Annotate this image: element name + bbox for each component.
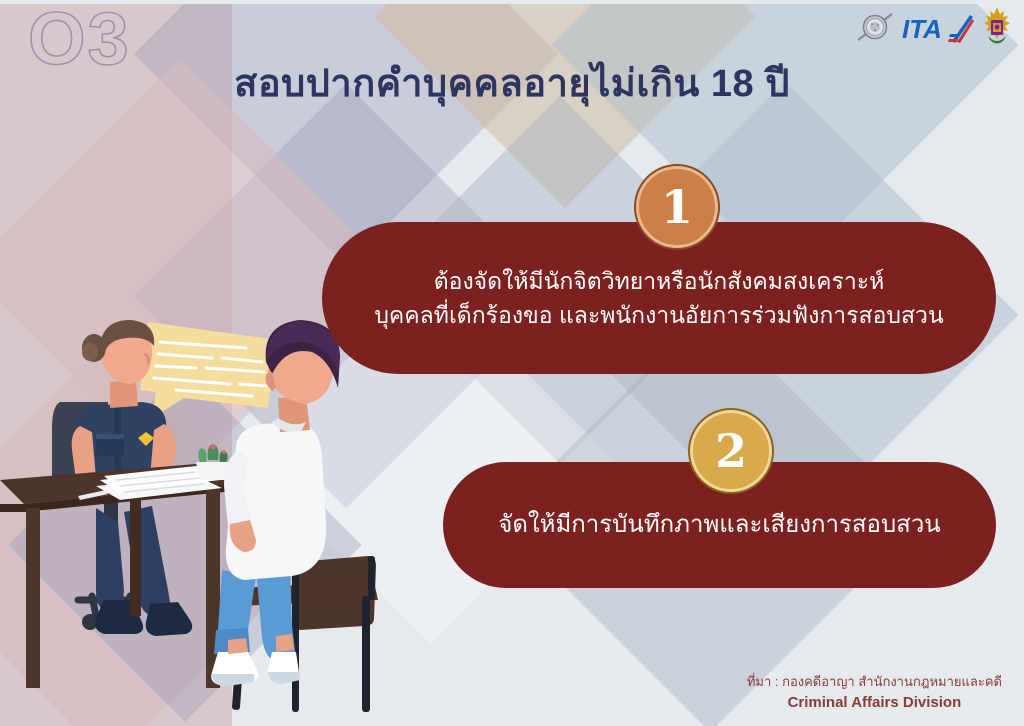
infographic-slide: O3 สอบปากคำบุคคลอายุไม่เกิน 18 ปี ITA <box>0 0 1024 726</box>
card-2-line-1: จัดให้มีการบันทึกภาพและเสียงการสอบสวน <box>498 507 940 543</box>
content-card-1: ต้องจัดให้มีนักจิตวิทยาหรือนักสังคมสงเคร… <box>322 222 996 374</box>
source-footer-thai: ที่มา : กองคดีอาญา สำนักงานกฎหมายและคดี <box>747 673 1002 692</box>
police-interview-illustration <box>0 300 400 726</box>
speech-bubble-icon <box>140 322 278 418</box>
ita-logo-text: ITA <box>902 14 942 44</box>
garuda-emblem-icon <box>982 6 1012 53</box>
source-footer: ที่มา : กองคดีอาญา สำนักงานกฎหมายและคดี … <box>747 673 1002 714</box>
ita-logo: ITA <box>902 9 976 49</box>
source-footer-english: Criminal Affairs Division <box>747 692 1002 714</box>
card-1-line-1: ต้องจัดให้มีนักจิตวิทยาหรือนักสังคมสงเคร… <box>374 264 943 299</box>
page-title: สอบปากคำบุคคลอายุไม่เกิน 18 ปี <box>0 52 1024 113</box>
card-2-text: จัดให้มีการบันทึกภาพและเสียงการสอบสวน <box>498 507 940 543</box>
card-1-line-2: บุคคลที่เด็กร้องขอ และพนักงานอัยการร่วมฟ… <box>374 298 943 333</box>
badge-number-1: 1 <box>636 166 718 248</box>
card-1-text: ต้องจัดให้มีนักจิตวิทยาหรือนักสังคมสงเคร… <box>374 264 943 333</box>
royal-thai-police-seal-icon <box>854 6 896 53</box>
background-top-strip <box>0 0 1024 4</box>
badge-number-2: 2 <box>690 410 772 492</box>
logo-group: ITA <box>854 6 1012 52</box>
